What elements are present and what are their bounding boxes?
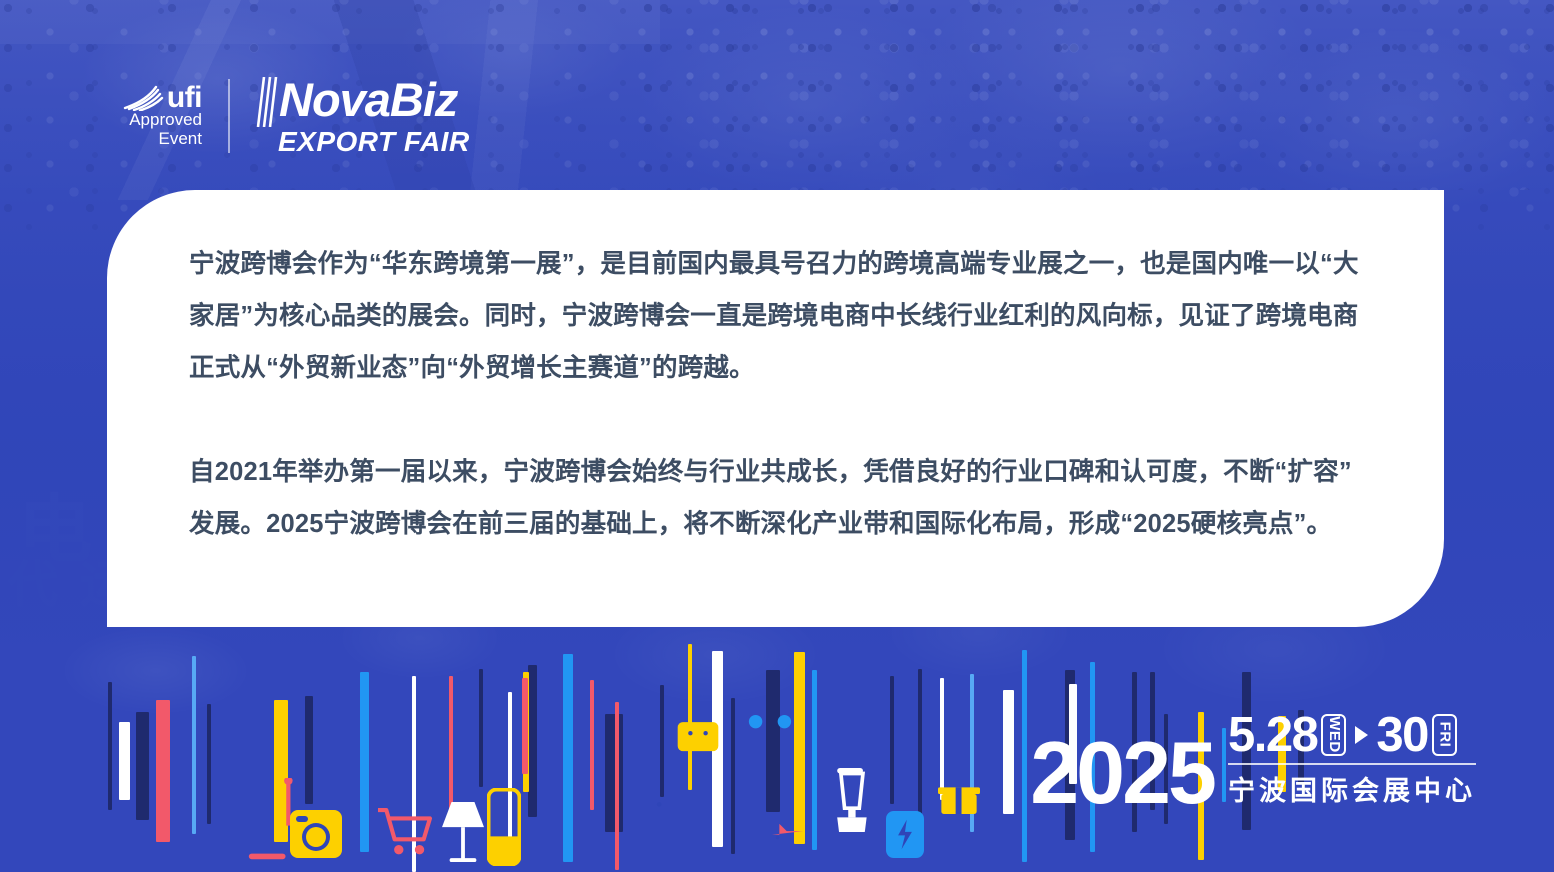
logo-divider: [228, 79, 230, 153]
year-label: 2025: [1030, 736, 1214, 810]
decor-bar: [136, 712, 149, 820]
ufi-event-label: Event: [159, 130, 202, 148]
paragraph-2: 自2021年举办第一届以来，宁波跨博会始终与行业共成长，凭借良好的行业口碑和认可…: [189, 446, 1374, 550]
refrigerator-icon: [487, 788, 521, 866]
ufi-wordmark: ufi: [167, 84, 202, 112]
header-logos: ufi Approved Event NovaBiz EXPORT FAIR: [88, 64, 470, 168]
start-dow-badge: WED: [1321, 714, 1346, 756]
chat-bubble-icon: [378, 684, 428, 732]
people-icon: [746, 714, 794, 756]
date-range-row: 5.28 WED 30 FRI: [1228, 714, 1476, 756]
ufi-logo: ufi Approved Event: [88, 84, 208, 148]
decor-bar: [590, 680, 594, 810]
date-underline: [1228, 763, 1476, 765]
decor-bar: [660, 685, 664, 797]
rocking-horse-icon: [608, 792, 674, 864]
decor-bar: [119, 722, 130, 800]
novabiz-slash-icon: [256, 77, 278, 127]
poster-root: 电 器 代 运 营 ufi Approved Event: [0, 0, 1554, 872]
decor-bar: [479, 669, 483, 787]
decor-bar: [156, 700, 170, 842]
decor-bar: [794, 652, 805, 844]
decor-bar: [528, 665, 537, 817]
shopping-cart-icon: [378, 808, 432, 856]
armchair-icon: [706, 810, 768, 864]
start-day: 5.28: [1228, 714, 1317, 756]
novabiz-logo: NovaBiz EXPORT FAIR: [256, 77, 470, 156]
date-detail: 5.28 WED 30 FRI 宁波国际会展中心: [1228, 714, 1476, 810]
decor-bar: [522, 678, 528, 774]
end-dow-label: FRI: [1436, 722, 1453, 748]
dog-icon: [772, 822, 818, 862]
date-block: 2025 5.28 WED 30 FRI 宁波国际会展中心: [1030, 714, 1476, 810]
blender-icon: [828, 768, 874, 832]
ufi-swoosh-icon: [123, 85, 165, 111]
decor-bar: [563, 654, 573, 862]
start-dow-label: WED: [1325, 717, 1342, 754]
content-card: 宁波跨博会作为“华东跨境第一展”，是目前国内最具号召力的跨境高端专业展之一，也是…: [107, 190, 1444, 627]
ufi-approved-label: Approved: [129, 111, 202, 129]
venue-label: 宁波国际会展中心: [1228, 769, 1476, 808]
vacuum-icon: [246, 778, 294, 862]
end-dow-badge: FRI: [1432, 714, 1457, 756]
decor-bar: [890, 676, 894, 804]
decor-bar: [1022, 650, 1027, 862]
gift-icon: [938, 774, 980, 814]
power-bank-icon: [886, 811, 924, 858]
arrow-right-triangle-icon: [1355, 726, 1368, 744]
decor-bar: [305, 696, 313, 804]
novabiz-subtitle: EXPORT FAIR: [278, 128, 470, 156]
paragraph-1: 宁波跨博会作为“华东跨境第一展”，是目前国内最具号召力的跨境高端专业展之一，也是…: [189, 238, 1374, 394]
decor-bar: [360, 672, 369, 852]
handbag-icon: [676, 711, 720, 752]
floor-lamp-icon: [442, 802, 484, 862]
decor-bar: [108, 682, 112, 810]
end-day: 30: [1376, 714, 1428, 756]
decor-bar: [449, 676, 453, 812]
chair-icon: [171, 790, 221, 866]
novabiz-name: NovaBiz: [279, 77, 457, 123]
decor-bar: [1003, 690, 1014, 814]
camera-icon: [290, 810, 342, 858]
